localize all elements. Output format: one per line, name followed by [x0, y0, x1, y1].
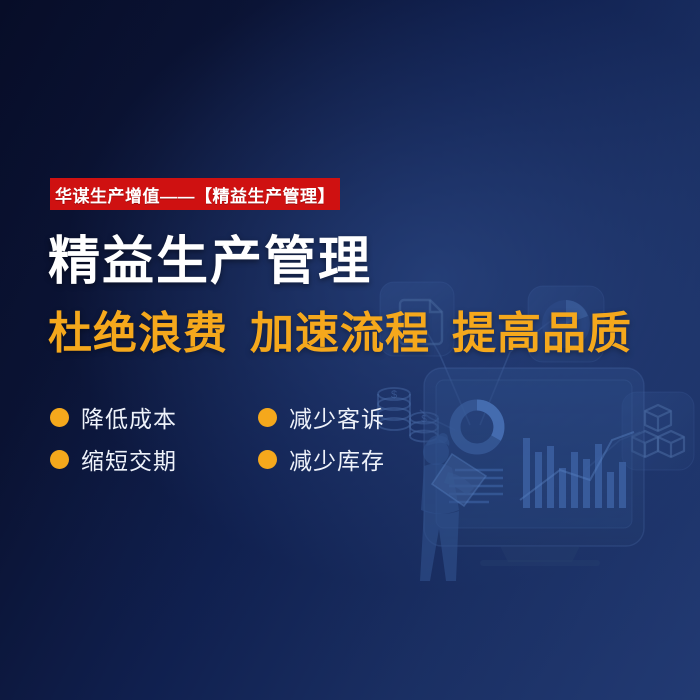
bullet-dot-icon	[50, 450, 69, 469]
poster-content: 华谋生产增值——【精益生产管理】 精益生产管理 杜绝浪费加速流程提高品质 降低成…	[0, 0, 700, 700]
benefits-list: 降低成本 减少客诉 缩短交期 减少库存	[50, 398, 450, 478]
benefit-label: 减少库存	[289, 442, 385, 476]
benefit-item: 缩短交期	[50, 440, 258, 478]
poster-canvas: $ $	[0, 0, 700, 700]
benefit-label: 降低成本	[81, 400, 177, 434]
benefit-label: 减少客诉	[289, 400, 385, 434]
tagline-banner: 华谋生产增值——【精益生产管理】	[50, 178, 340, 210]
poster-headline: 精益生产管理	[48, 236, 372, 288]
tagline-text: 华谋生产增值——【精益生产管理】	[55, 182, 335, 207]
benefit-item: 减少客诉	[258, 398, 450, 436]
benefit-item: 减少库存	[258, 440, 450, 478]
benefit-item: 降低成本	[50, 398, 258, 436]
bullet-dot-icon	[50, 408, 69, 427]
subhead-segment-2: 加速流程	[250, 309, 430, 358]
bullet-dot-icon	[258, 408, 277, 427]
subhead-segment-1: 杜绝浪费	[48, 309, 228, 358]
bullet-dot-icon	[258, 450, 277, 469]
benefit-label: 缩短交期	[81, 442, 177, 476]
subhead-segment-3: 提高品质	[452, 309, 632, 358]
poster-subheadline: 杜绝浪费加速流程提高品质	[48, 312, 632, 356]
